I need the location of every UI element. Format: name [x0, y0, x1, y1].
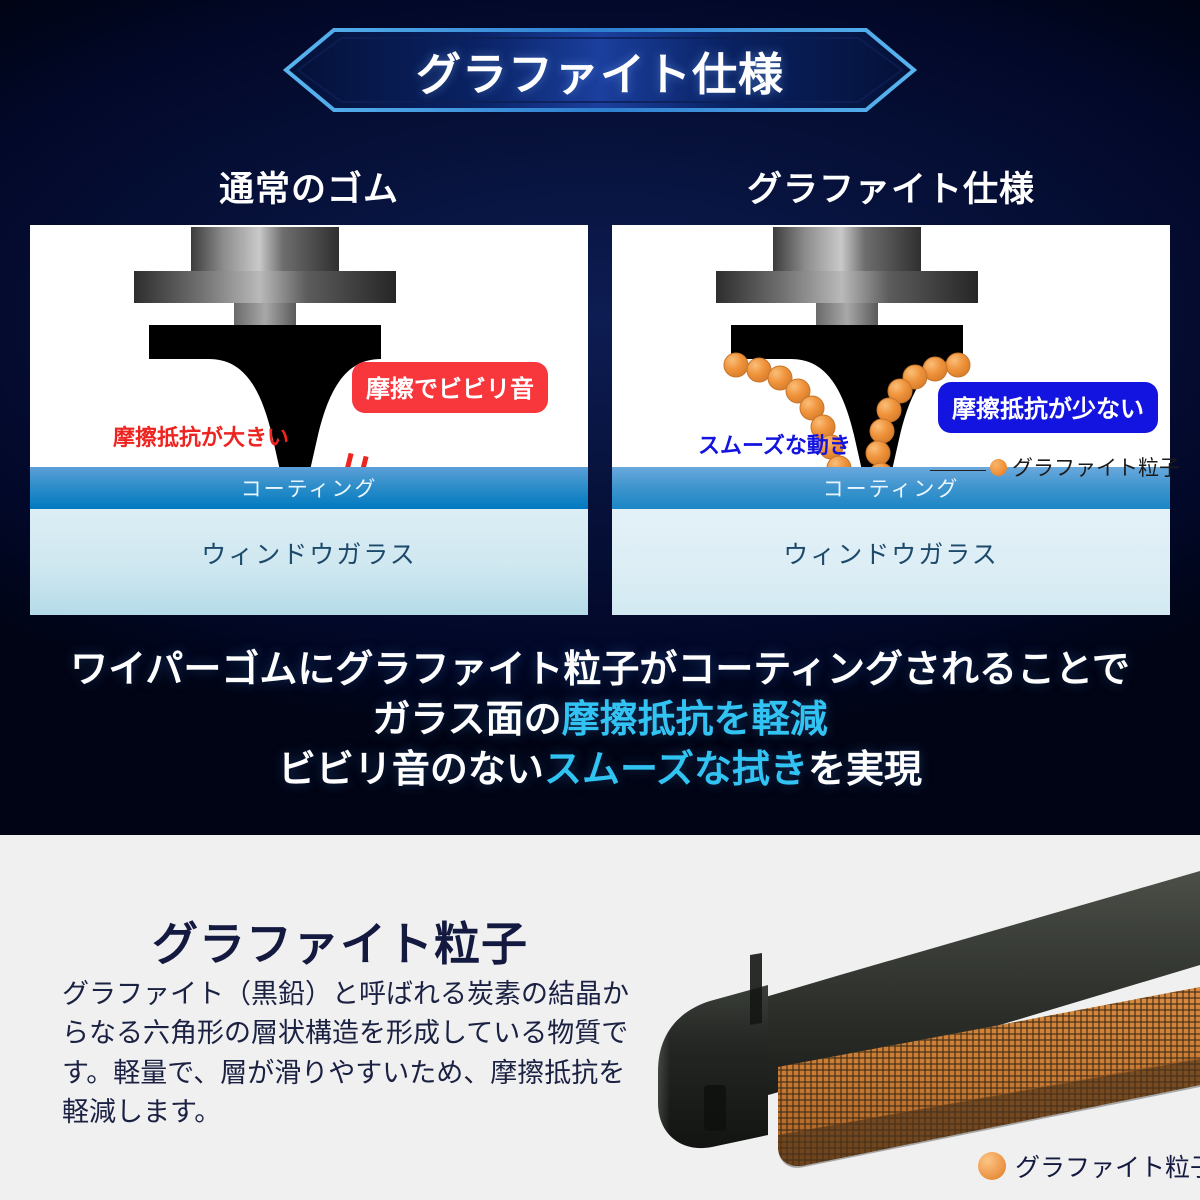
particle-callout: グラファイト粒子 [990, 452, 1180, 482]
banner-title: グラファイト仕様 [282, 26, 918, 114]
bottom-body-text: グラファイト（黒鉛）と呼ばれる炭素の結晶からなる六角形の層状構造を形成している物… [62, 975, 637, 1133]
label-smooth-motion: スムーズな動き [698, 428, 851, 460]
graphite-particle-legend-icon [978, 1152, 1006, 1180]
top-dark-section: グラファイト仕様 通常のゴム グラファイト仕様 [0, 0, 1200, 835]
bottom-legend: グラファイト粒子 [978, 1148, 1200, 1184]
summary-line-1: ワイパーゴムにグラファイト粒子がコーティングされることで [0, 645, 1200, 695]
label-high-friction: 摩擦抵抗が大きい [113, 420, 289, 452]
bottom-legend-label: グラファイト粒子 [1015, 1148, 1200, 1184]
summary-text: ワイパーゴムにグラファイト粒子がコーティングされることで ガラス面の摩擦抵抗を軽… [0, 645, 1200, 795]
summary-line-2: ガラス面の摩擦抵抗を軽減 [0, 695, 1200, 745]
panel-heading-normal-rubber: 通常のゴム [30, 160, 588, 212]
summary-line-3-post: を実現 [808, 749, 922, 791]
badge-friction-noise: 摩擦でビビリ音 [352, 362, 548, 413]
summary-line-2-highlight: 摩擦抵抗を軽減 [562, 699, 828, 741]
summary-line-2-pre: ガラス面の [372, 699, 561, 741]
callout-leader-line [930, 470, 986, 471]
summary-line-3: ビビリ音のないスムーズな拭きを実現 [0, 745, 1200, 795]
badge-low-friction: 摩擦抵抗が少ない [938, 382, 1158, 433]
glass-layer-right: ウィンドウガラス [612, 509, 1170, 615]
banner: グラファイト仕様 [282, 26, 918, 114]
particle-callout-label: グラファイト粒子 [1012, 452, 1180, 482]
glass-layer-left: ウィンドウガラス [30, 509, 588, 615]
summary-line-3-pre: ビビリ音のない [278, 749, 544, 791]
graphite-particle-icon [990, 459, 1007, 476]
wiper-blade-photo [600, 835, 1200, 1200]
summary-line-3-highlight: スムーズな拭き [544, 749, 808, 791]
bottom-heading: グラファイト粒子 [152, 908, 528, 974]
panel-heading-graphite: グラファイト仕様 [612, 160, 1170, 212]
coating-layer-left: コーティング [30, 467, 588, 509]
bottom-light-section: グラファイト粒子 グラファイト（黒鉛）と呼ばれる炭素の結晶からなる六角形の層状構… [0, 835, 1200, 1200]
